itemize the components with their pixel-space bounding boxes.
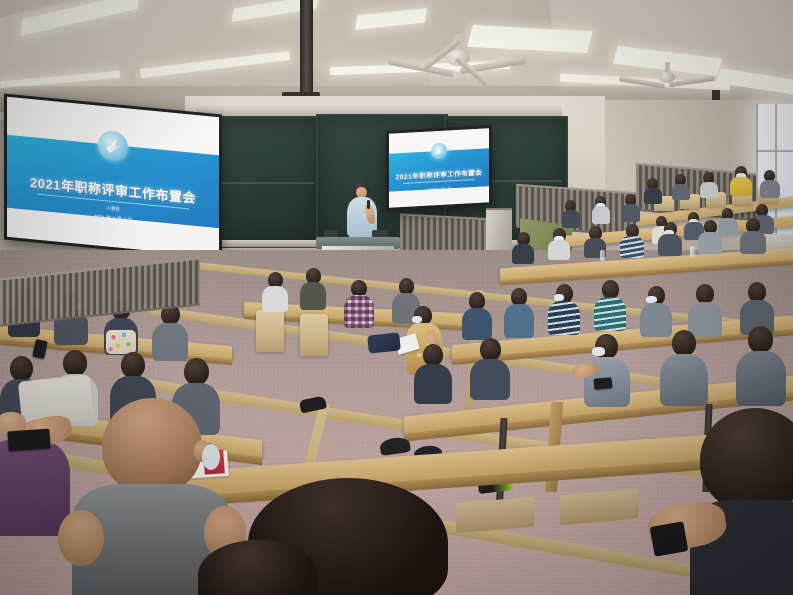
attendee-head	[480, 338, 501, 361]
microphone	[367, 200, 370, 209]
attendee-head	[696, 284, 714, 304]
secondary-projection-screen: 2021年职称评审工作布置会 2021 年 7 月 2 日	[386, 125, 492, 211]
attendee-torso	[462, 308, 492, 340]
attendee-torso	[262, 286, 288, 312]
wristwatch	[650, 521, 689, 556]
attendee-torso	[698, 232, 722, 254]
attendee-torso	[644, 188, 662, 204]
attendee	[640, 286, 672, 334]
attendee	[622, 194, 640, 220]
attendee-torso	[470, 359, 510, 400]
attendee-torso	[300, 282, 326, 310]
attendee	[672, 174, 690, 198]
attendee	[760, 170, 780, 196]
attendee	[548, 228, 570, 258]
ceiling-fan	[398, 34, 518, 90]
attendee	[152, 304, 188, 358]
attendee-head	[748, 326, 773, 353]
attendee-striped-polo	[548, 284, 580, 332]
attendee-torso	[504, 304, 534, 338]
attendee-torso	[562, 210, 580, 228]
attendee	[562, 200, 580, 226]
ceiling-fan	[625, 62, 711, 98]
attendee	[736, 326, 786, 404]
attendee	[740, 282, 774, 332]
attendee-foreground-right	[690, 408, 793, 595]
attendee-head	[198, 540, 318, 595]
attendee-torso	[594, 297, 626, 331]
smartphone	[7, 429, 50, 452]
seat	[256, 310, 284, 352]
face-mask	[646, 296, 657, 303]
attendee	[644, 178, 662, 202]
face-mask	[554, 294, 564, 301]
attendee-head	[63, 350, 87, 376]
attendee-foreground-left	[198, 540, 318, 595]
attendee	[504, 288, 534, 334]
attendee-striped-shirt	[620, 224, 644, 256]
attendee-head	[184, 358, 209, 385]
attendee-torso	[0, 440, 70, 536]
attendee-torso	[152, 323, 188, 361]
attendee-torso	[740, 231, 766, 254]
attendee-checkered-shirt	[344, 280, 374, 326]
attendee	[262, 272, 288, 310]
lecture-hall-photo: 2021年职称评审工作布置会 人事处 2021 年 7 月 2 日 2021年职…	[0, 0, 793, 595]
attendee-head	[121, 352, 145, 378]
attendee-torso	[622, 204, 640, 222]
attendee-torso	[620, 236, 644, 258]
attendee-torso	[592, 206, 610, 224]
attendee	[660, 330, 708, 404]
attendee-torso	[736, 351, 786, 406]
attendee	[658, 222, 682, 254]
attendee	[698, 220, 722, 252]
attendee-head	[423, 344, 443, 366]
attendee-head	[748, 282, 766, 302]
main-projection-screen: 2021年职称评审工作布置会 人事处 2021 年 7 月 2 日	[4, 94, 222, 261]
attendee-torso	[658, 234, 682, 256]
navy-bag	[367, 332, 401, 353]
slide-main: 2021年职称评审工作布置会 人事处 2021 年 7 月 2 日	[7, 97, 219, 257]
attendee-head	[102, 398, 202, 494]
attendee	[592, 196, 610, 222]
attendee-teal-stripe	[594, 280, 626, 328]
water-bottle	[690, 246, 695, 257]
seat	[300, 314, 328, 356]
attendee	[300, 268, 326, 308]
face-mask	[592, 347, 605, 356]
attendee-torso	[344, 295, 374, 328]
attendee-grey-polo	[584, 334, 630, 406]
attendee-head	[700, 408, 793, 512]
slide-secondary: 2021年职称评审工作布置会 2021 年 7 月 2 日	[389, 128, 489, 208]
smartphone	[594, 377, 613, 390]
attendee-torso	[414, 364, 452, 404]
attendee-torso	[512, 244, 534, 264]
face-mask-strap	[202, 444, 220, 470]
attendee	[512, 232, 534, 262]
window-mullion	[775, 104, 777, 234]
water-bottle	[600, 250, 605, 261]
attendee-torso	[760, 180, 780, 198]
attendee-torso	[660, 354, 708, 406]
attendee	[688, 284, 722, 334]
attendee	[740, 218, 766, 252]
attendee-shoulder	[58, 510, 104, 566]
window-mullion	[756, 150, 793, 152]
attendee	[700, 172, 718, 196]
attendee-torso	[700, 182, 718, 198]
attendee-head	[672, 330, 696, 356]
floral-bag	[106, 330, 136, 354]
attendee-torso	[548, 301, 580, 335]
attendee-yellow-shirt	[730, 166, 752, 194]
attendee	[470, 338, 510, 398]
attendee-torso	[730, 177, 752, 196]
face-mask	[412, 316, 422, 323]
attendee-torso	[548, 240, 570, 260]
attendee-torso	[672, 184, 690, 200]
attendee	[462, 292, 492, 336]
attendee-head	[10, 356, 33, 381]
attendee	[414, 344, 452, 402]
